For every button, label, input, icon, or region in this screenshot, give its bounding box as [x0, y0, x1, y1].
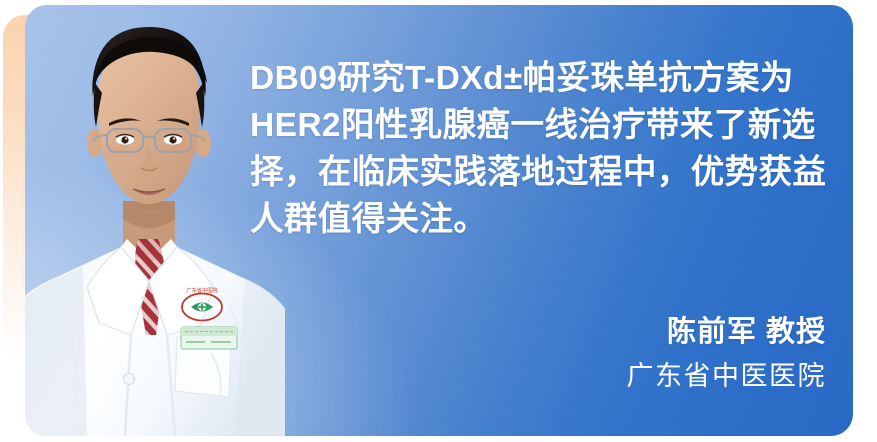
speaker-affiliation: 广东省中医医院 — [627, 356, 827, 396]
id-badge — [181, 327, 237, 349]
speaker-name: 陈前军 教授 — [627, 312, 827, 352]
coat-button — [124, 374, 135, 385]
page-title: DB09研究T-DXd±帕妥珠单抗方案为HER2阳性乳腺癌一线治疗带来了新选择，… — [250, 55, 853, 243]
speaker-attribution: 陈前军 教授 广东省中医医院 — [627, 312, 827, 396]
main-promo-card: 广东省中医院 — [25, 5, 853, 436]
svg-text:广东省中医院: 广东省中医院 — [186, 286, 218, 294]
doctor-portrait: 广东省中医院 — [25, 5, 285, 436]
promo-card-stage: 广东省中医院 — [0, 0, 877, 442]
